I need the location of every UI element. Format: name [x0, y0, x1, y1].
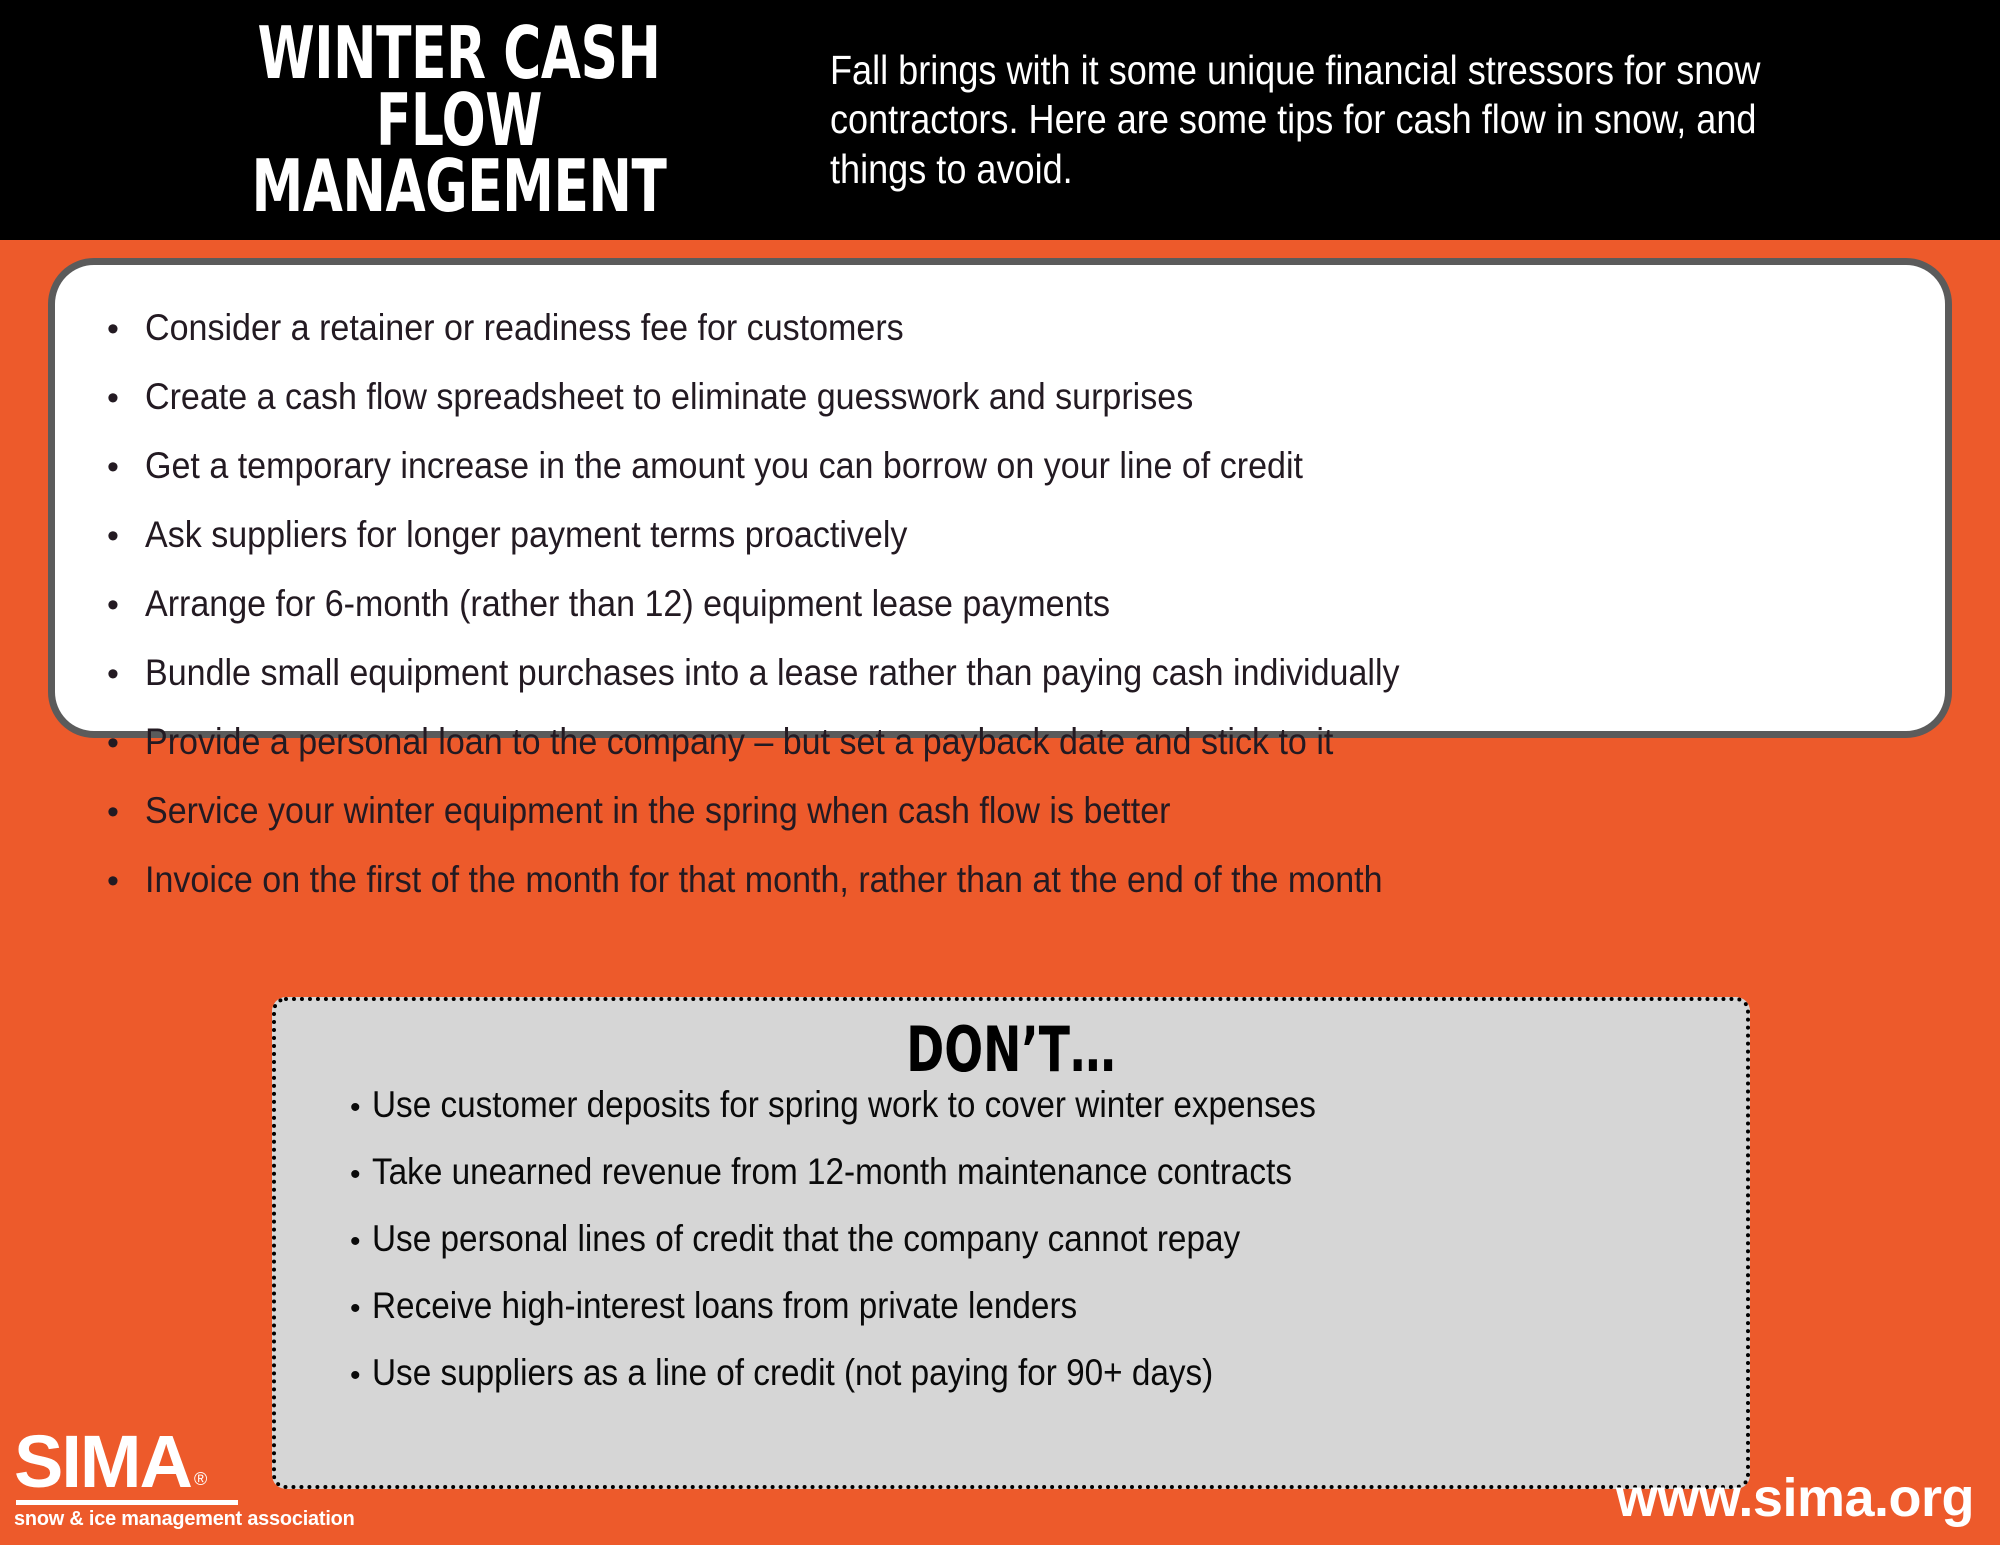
list-item-label: Receive high-interest loans from private… [372, 1287, 1077, 1324]
list-item: • Use customer deposits for spring work … [350, 1086, 1716, 1123]
list-item: • Bundle small equipment purchases into … [99, 654, 1905, 691]
list-item-label: Get a temporary increase in the amount y… [145, 447, 1303, 484]
list-item: • Arrange for 6-month (rather than 12) e… [99, 585, 1905, 622]
dont-warnings-list: • Use customer deposits for spring work … [306, 1086, 1716, 1391]
dont-heading: DON’T… [433, 1017, 1589, 1082]
bullet-icon: • [99, 864, 145, 898]
dont-warnings-card: DON’T… • Use customer deposits for sprin… [272, 997, 1750, 1489]
bullet-icon: • [99, 312, 145, 346]
list-item: • Use suppliers as a line of credit (not… [350, 1354, 1716, 1391]
list-item-label: Invoice on the first of the month for th… [145, 861, 1383, 898]
bullet-icon: • [99, 726, 145, 760]
list-item: • Invoice on the first of the month for … [99, 861, 1905, 898]
list-item-label: Service your winter equipment in the spr… [145, 792, 1170, 829]
list-item: • Take unearned revenue from 12-month ma… [350, 1153, 1716, 1190]
list-item-label: Arrange for 6-month (rather than 12) equ… [145, 585, 1110, 622]
registered-trademark-icon: ® [191, 1470, 205, 1494]
bullet-icon: • [99, 657, 145, 691]
list-item-label: Use personal lines of credit that the co… [372, 1220, 1240, 1257]
list-item: • Consider a retainer or readiness fee f… [99, 309, 1905, 346]
do-tips-list: • Consider a retainer or readiness fee f… [99, 309, 1905, 898]
list-item: • Use personal lines of credit that the … [350, 1220, 1716, 1257]
list-item-label: Create a cash flow spreadsheet to elimin… [145, 378, 1193, 415]
sima-logo: SIMA ® snow & ice management association [14, 1431, 264, 1529]
list-item: • Ask suppliers for longer payment terms… [99, 516, 1905, 553]
list-item-label: Ask suppliers for longer payment terms p… [145, 516, 907, 553]
list-item: • Get a temporary increase in the amount… [99, 447, 1905, 484]
list-item: • Create a cash flow spreadsheet to elim… [99, 378, 1905, 415]
list-item: • Service your winter equipment in the s… [99, 792, 1905, 829]
list-item: • Provide a personal loan to the company… [99, 723, 1905, 760]
list-item-label: Use suppliers as a line of credit (not p… [372, 1354, 1213, 1391]
bullet-icon: • [350, 1093, 372, 1123]
list-item: • Receive high-interest loans from priva… [350, 1287, 1716, 1324]
bullet-icon: • [350, 1294, 372, 1324]
page-title: Winter Cash Flow Management [83, 20, 747, 221]
bullet-icon: • [350, 1361, 372, 1391]
website-url[interactable]: www.sima.org [1616, 1471, 1974, 1525]
bullet-icon: • [99, 450, 145, 484]
header-band: Winter Cash Flow Management Fall brings … [0, 0, 2000, 240]
bullet-icon: • [99, 795, 145, 829]
header-intro-text: Fall brings with it some unique financia… [830, 46, 1860, 194]
do-tips-card: • Consider a retainer or readiness fee f… [48, 258, 1952, 738]
list-item-label: Take unearned revenue from 12-month main… [372, 1153, 1292, 1190]
infographic-page: Winter Cash Flow Management Fall brings … [0, 0, 2000, 1545]
logo-tagline: snow & ice management association [14, 1509, 257, 1530]
list-item-label: Provide a personal loan to the company –… [145, 723, 1333, 760]
bullet-icon: • [99, 588, 145, 622]
bullet-icon: • [99, 519, 145, 553]
list-item-label: Use customer deposits for spring work to… [372, 1086, 1316, 1123]
logo-wordmark-row: SIMA ® [14, 1431, 264, 1494]
bullet-icon: • [350, 1160, 372, 1190]
bullet-icon: • [350, 1227, 372, 1257]
logo-wordmark-text: SIMA [14, 1431, 191, 1494]
bullet-icon: • [99, 381, 145, 415]
list-item-label: Consider a retainer or readiness fee for… [145, 309, 904, 346]
list-item-label: Bundle small equipment purchases into a … [145, 654, 1400, 691]
